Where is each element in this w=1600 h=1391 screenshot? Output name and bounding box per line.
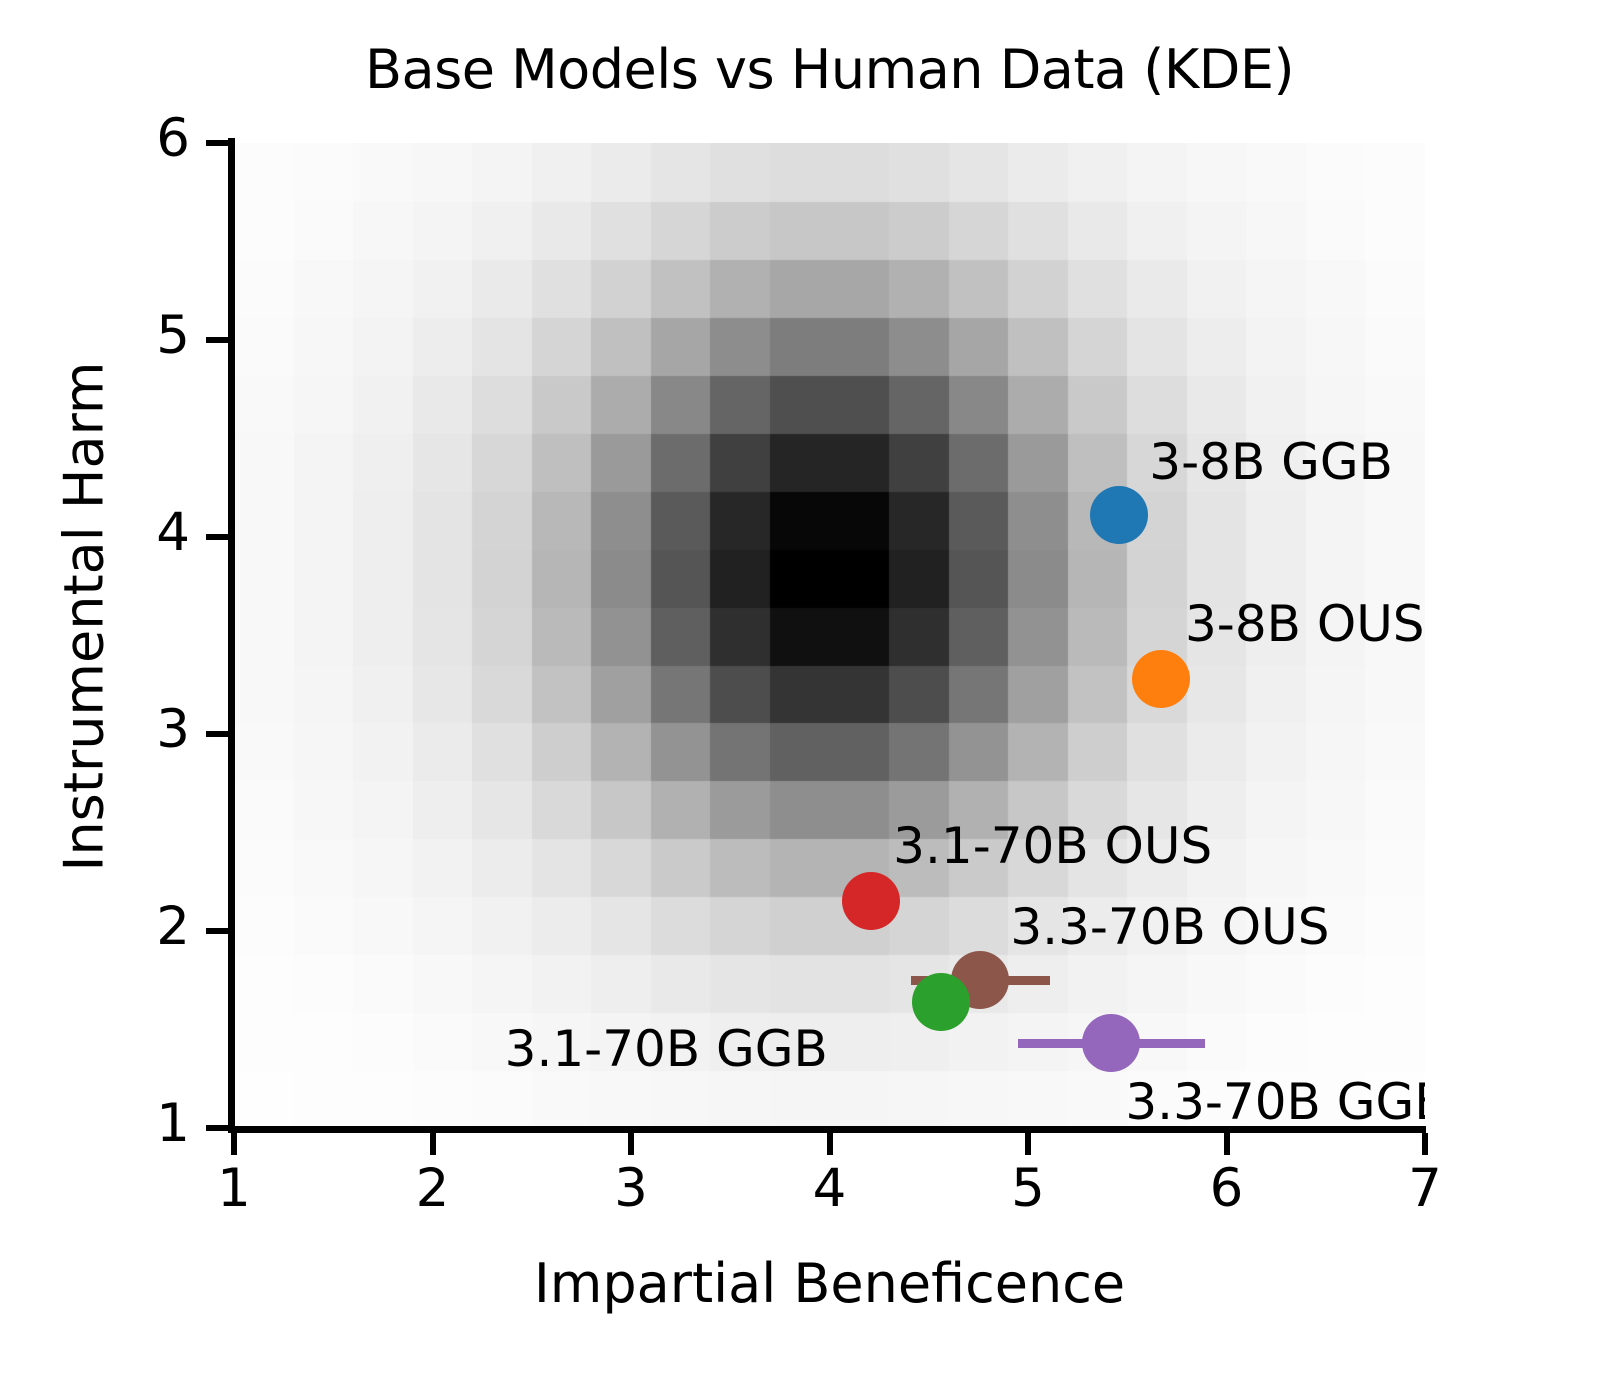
y-tick-4	[206, 534, 228, 540]
plot-area: 3-8B GGB3-8B OUS3.1-70B OUS3.3-70B OUS3.…	[234, 143, 1425, 1128]
data-point-label: 3-8B GGB	[1149, 433, 1393, 491]
x-tick-label-7: 7	[1365, 1158, 1485, 1219]
x-tick-7	[1422, 1133, 1428, 1155]
x-tick-label-5: 5	[968, 1158, 1088, 1219]
chart-figure: Base Models vs Human Data (KDE) 3-8B GGB…	[0, 0, 1600, 1391]
x-tick-label-6: 6	[1167, 1158, 1287, 1219]
y-tick-2	[206, 928, 228, 934]
y-tick-3	[206, 731, 228, 737]
x-tick-4	[827, 1133, 833, 1155]
x-axis-label: Impartial Beneficence	[234, 1252, 1425, 1315]
data-point-label: 3-8B OUS	[1185, 595, 1425, 653]
x-tick-label-3: 3	[571, 1158, 691, 1219]
chart-title: Base Models vs Human Data (KDE)	[234, 38, 1425, 101]
x-tick-1	[231, 1133, 237, 1155]
y-tick-5	[206, 337, 228, 343]
x-tick-6	[1224, 1133, 1230, 1155]
x-tick-3	[628, 1133, 634, 1155]
data-point-label: 3.1-70B OUS	[893, 817, 1212, 875]
data-point-marker[interactable]	[912, 973, 970, 1031]
y-tick-1	[206, 1125, 228, 1131]
data-point-label: 3.3-70B OUS	[1010, 898, 1329, 956]
y-tick-6	[206, 140, 228, 146]
x-tick-label-1: 1	[174, 1158, 294, 1219]
data-point-marker[interactable]	[1132, 650, 1190, 708]
data-point-label: 3.1-70B GGB	[505, 1020, 828, 1078]
y-axis-label: Instrumental Harm	[53, 67, 116, 1167]
y-axis-spine	[228, 138, 235, 1133]
x-tick-label-4: 4	[770, 1158, 890, 1219]
data-point-label: 3.3-70B GGB	[1125, 1073, 1425, 1128]
x-tick-5	[1025, 1133, 1031, 1155]
x-tick-label-2: 2	[373, 1158, 493, 1219]
x-tick-2	[430, 1133, 436, 1155]
